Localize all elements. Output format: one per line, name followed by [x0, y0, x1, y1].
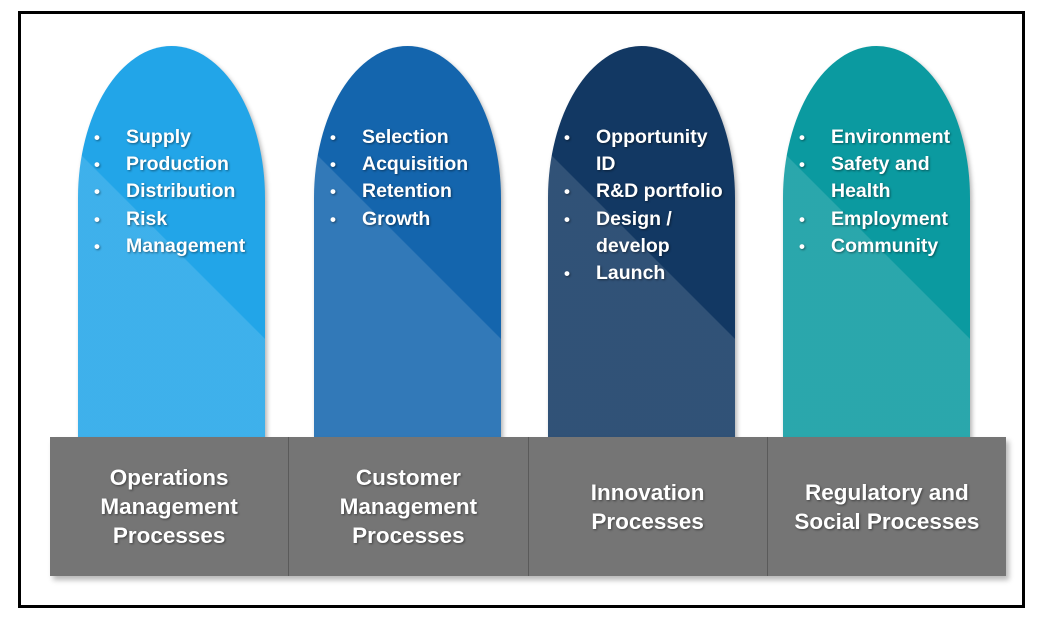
list-item: Production: [94, 151, 259, 178]
footer-cell-regulatory-and-social-processes[interactable]: Regulatory and Social Processes: [768, 437, 1006, 576]
list-item: R&D portfolio: [564, 178, 729, 205]
pillar-sheen: [314, 46, 501, 446]
pillar-item-list: Supply Production Distribution Risk Mana…: [78, 124, 259, 260]
pillar-regulatory-and-social-processes[interactable]: Environment Safety and Health Employment…: [783, 46, 970, 446]
list-item: Selection: [330, 124, 495, 151]
pillar-operations-management-processes[interactable]: Supply Production Distribution Risk Mana…: [78, 46, 265, 446]
footer-cell-customer-management-processes[interactable]: Customer Management Processes: [289, 437, 528, 576]
list-item: Acquisition: [330, 151, 495, 178]
list-item: Design / develop: [564, 206, 729, 260]
pillar-customer-management-processes[interactable]: Selection Acquisition Retention Growth: [314, 46, 501, 446]
footer-label: Operations Management Processes: [92, 463, 246, 550]
diagram-frame: Supply Production Distribution Risk Mana…: [18, 11, 1025, 608]
pillar-item-list: Environment Safety and Health Employment…: [783, 124, 964, 260]
footer-label: Innovation Processes: [583, 478, 713, 536]
list-item: Supply: [94, 124, 259, 151]
list-item: Launch: [564, 260, 729, 287]
footer-cell-innovation-processes[interactable]: Innovation Processes: [529, 437, 768, 576]
list-item: Opportunity ID: [564, 124, 729, 178]
list-item: Environment: [799, 124, 964, 151]
process-category-bar: Operations Management Processes Customer…: [50, 437, 1006, 576]
list-item: Risk: [94, 206, 259, 233]
pillar-item-list: Opportunity ID R&D portfolio Design / de…: [548, 124, 729, 287]
footer-label: Regulatory and Social Processes: [786, 478, 987, 536]
list-item: Safety and Health: [799, 151, 964, 205]
list-item: Growth: [330, 206, 495, 233]
footer-label: Customer Management Processes: [332, 463, 486, 550]
list-item: Retention: [330, 178, 495, 205]
pillar-item-list: Selection Acquisition Retention Growth: [314, 124, 495, 233]
list-item: Distribution: [94, 178, 259, 205]
pillar-innovation-processes[interactable]: Opportunity ID R&D portfolio Design / de…: [548, 46, 735, 446]
footer-cell-operations-management-processes[interactable]: Operations Management Processes: [50, 437, 289, 576]
list-item: Employment: [799, 206, 964, 233]
list-item: Community: [799, 233, 964, 260]
list-item: Management: [94, 233, 259, 260]
